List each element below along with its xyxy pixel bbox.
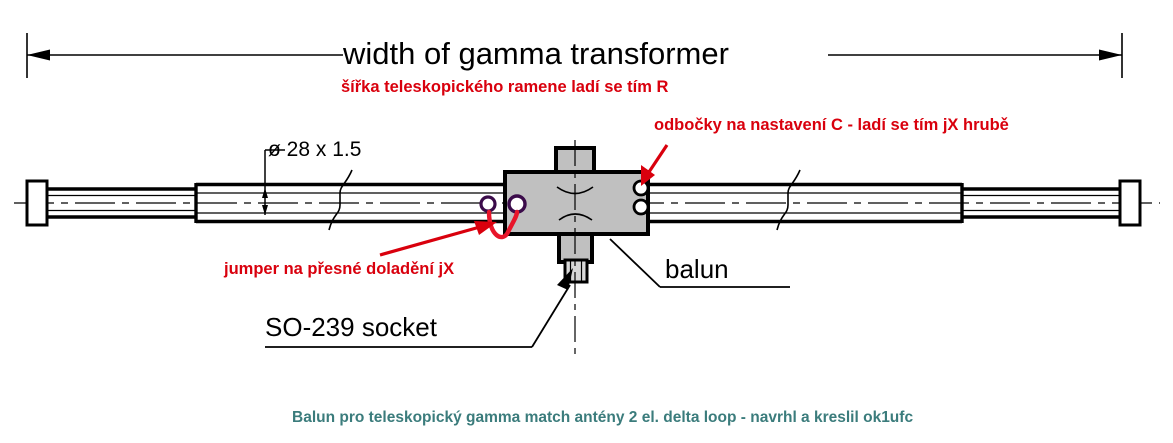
width-dimension-note: šířka teleskopického ramene ladí se tím …	[341, 79, 668, 96]
tap-setting-note: odbočky na nastavení C - ladí se tím jX …	[654, 117, 1009, 134]
tube-dimension-label: ø 28 x 1.5	[268, 139, 361, 160]
right-end-cap	[1120, 181, 1140, 225]
diagram-canvas: width of gamma transformer šířka telesko…	[0, 0, 1173, 443]
tap-hole-lower[interactable]	[634, 200, 648, 214]
so239-socket-label: SO-239 socket	[265, 314, 437, 340]
jumper-note: jumper na přesné doladění jX	[224, 261, 454, 278]
jumper-ring-inner[interactable]	[509, 196, 525, 212]
jumper-note-arrow	[380, 221, 497, 255]
left-end-cap	[27, 181, 47, 225]
dimension-arrow-left	[27, 50, 50, 61]
dimension-arrow-right	[1099, 50, 1122, 61]
tap-note-arrow	[641, 145, 667, 186]
width-dimension-label: width of gamma transformer	[343, 38, 729, 69]
jumper-ring-outer[interactable]	[481, 197, 495, 211]
balun-label: balun	[665, 256, 729, 282]
drawing-caption: Balun pro teleskopický gamma match antén…	[292, 410, 913, 426]
